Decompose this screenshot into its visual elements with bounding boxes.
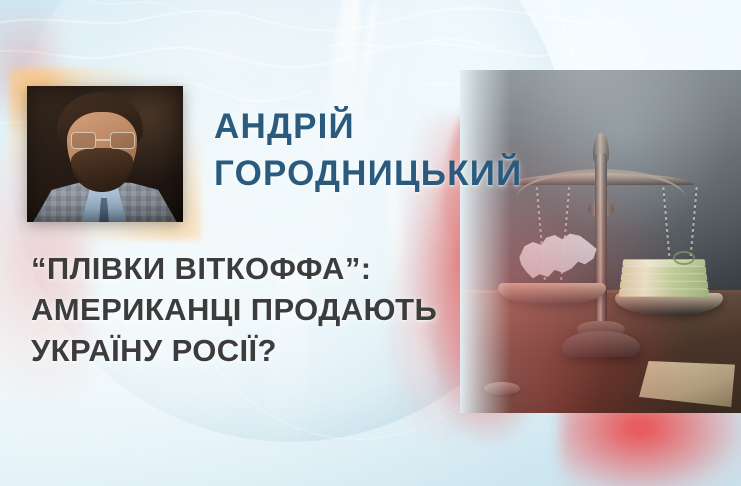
coin-icon	[484, 382, 520, 395]
money-stack-icon	[619, 259, 710, 296]
headline-line-3: УКРАЇНУ РОСІЇ?	[31, 330, 551, 371]
headline: “ПЛІВКИ ВІТКОФФА”: АМЕРИКАНЦІ ПРОДАЮТЬ У…	[31, 248, 551, 371]
scales-base	[562, 331, 640, 357]
speaker-last-name: ГОРОДНИЦЬКИЙ	[214, 150, 694, 197]
speaker-name: АНДРІЙ ГОРОДНИЦЬКИЙ	[214, 103, 694, 197]
glasses-icon	[71, 132, 135, 149]
thumbnail-banner: АНДРІЙ ГОРОДНИЦЬКИЙ “ПЛІВКИ ВІТКОФФА”: А…	[0, 0, 741, 486]
headline-line-1: “ПЛІВКИ ВІТКОФФА”:	[31, 248, 551, 289]
money-seal-icon	[673, 251, 695, 265]
headline-line-2: АМЕРИКАНЦІ ПРОДАЮТЬ	[31, 289, 551, 330]
portrait-frame	[27, 86, 183, 222]
speaker-portrait	[27, 86, 183, 222]
speaker-first-name: АНДРІЙ	[214, 107, 355, 146]
